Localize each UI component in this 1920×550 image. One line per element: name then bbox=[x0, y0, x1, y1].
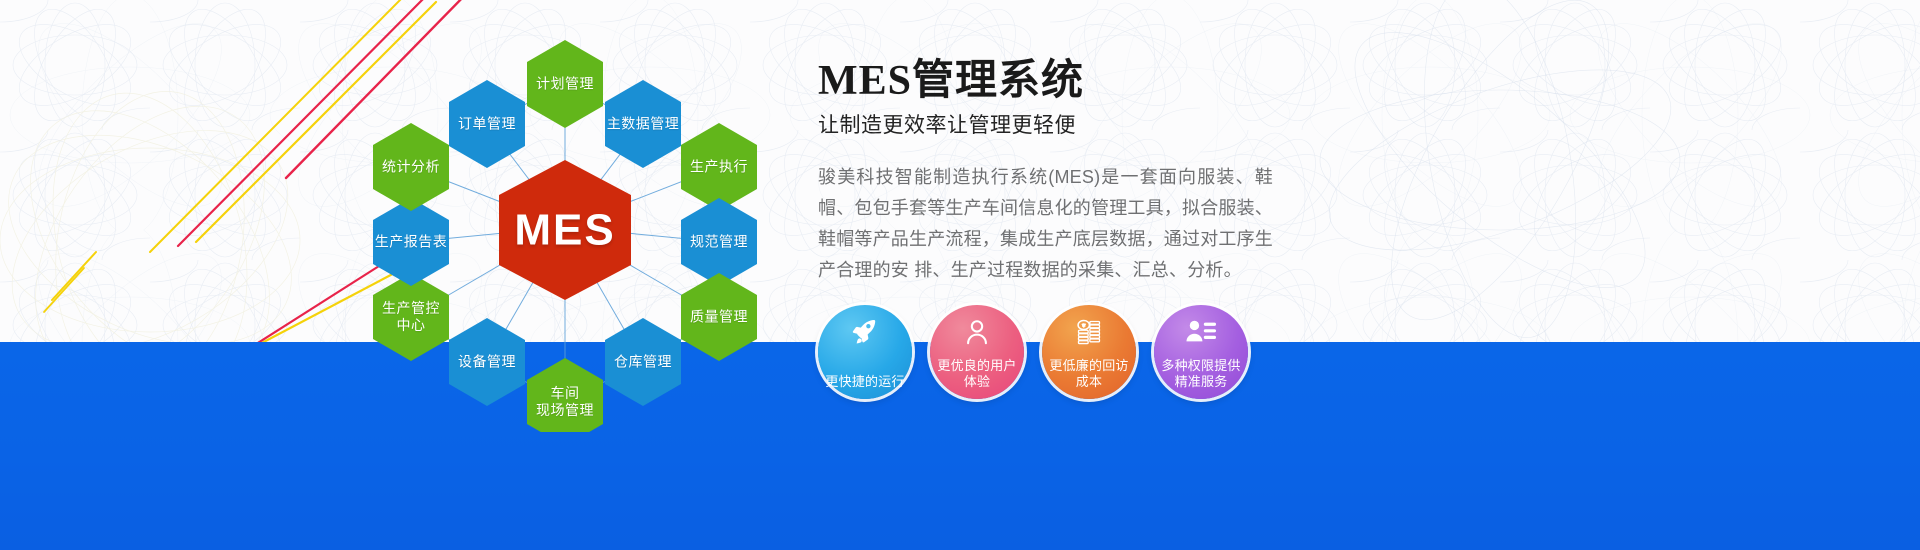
mes-hex-diagram: 计划管理 主数据管理 生产执行 规范管理 质量管理 仓库管理 车间 现场管理 设… bbox=[335, 12, 795, 432]
hex-node-3 bbox=[681, 198, 757, 286]
badge-line1: 更优良的用户 bbox=[937, 358, 1016, 373]
hex-node-10 bbox=[373, 123, 449, 211]
page-title: MES管理系统 bbox=[818, 56, 1338, 106]
description-paragraph: 骏美科技智能制造执行系统(MES)是一套面向服装、鞋帽、包包手套等生产车间信息化… bbox=[818, 162, 1273, 286]
hex-node-8 bbox=[373, 273, 449, 361]
hex-node-6 bbox=[527, 358, 603, 432]
badge-label: 更低廉的回访 成本 bbox=[1043, 358, 1135, 399]
hex-node-5 bbox=[605, 318, 681, 406]
badge-line2: 成本 bbox=[1076, 374, 1102, 389]
hex-center bbox=[499, 160, 631, 300]
hex-node-11 bbox=[449, 80, 525, 168]
hex-node-2 bbox=[681, 123, 757, 211]
hex-diagram-svg bbox=[335, 12, 795, 432]
hex-node-9 bbox=[373, 198, 449, 286]
badge-faster-operation[interactable]: 更快捷的运行 bbox=[818, 305, 912, 399]
badge-line2: 精准服务 bbox=[1175, 374, 1228, 389]
badge-label: 多种权限提供 精准服务 bbox=[1155, 358, 1247, 399]
badge-better-experience[interactable]: 更优良的用户 体验 bbox=[930, 305, 1024, 399]
badge-permissions[interactable]: 多种权限提供 精准服务 bbox=[1154, 305, 1248, 399]
badge-label: 更优良的用户 体验 bbox=[931, 358, 1023, 399]
badge-label: 更快捷的运行 bbox=[819, 374, 911, 399]
banner-stage: 计划管理 主数据管理 生产执行 规范管理 质量管理 仓库管理 车间 现场管理 设… bbox=[0, 0, 1920, 550]
badge-line1: 多种权限提供 bbox=[1161, 358, 1240, 373]
page-subtitle: 让制造更效率让管理更轻便 bbox=[818, 112, 1338, 140]
content-column: MES管理系统 让制造更效率让管理更轻便 骏美科技智能制造执行系统(MES)是一… bbox=[818, 56, 1338, 286]
permissions-icon bbox=[1184, 315, 1218, 349]
badge-line2: 体验 bbox=[964, 374, 990, 389]
rocket-icon bbox=[848, 315, 882, 349]
hex-node-4 bbox=[681, 273, 757, 361]
feature-badges: 更快捷的运行 更优良的用户 体验 bbox=[818, 305, 1248, 399]
user-icon bbox=[960, 315, 994, 349]
coins-icon bbox=[1072, 315, 1106, 349]
badge-line1: 更低廉的回访 bbox=[1049, 358, 1128, 373]
badge-lower-cost[interactable]: 更低廉的回访 成本 bbox=[1042, 305, 1136, 399]
hex-node-1 bbox=[605, 80, 681, 168]
hex-node-0 bbox=[527, 40, 603, 128]
hex-node-7 bbox=[449, 318, 525, 406]
hex-shapes bbox=[373, 40, 757, 432]
badge-line1: 更快捷的运行 bbox=[825, 374, 904, 389]
